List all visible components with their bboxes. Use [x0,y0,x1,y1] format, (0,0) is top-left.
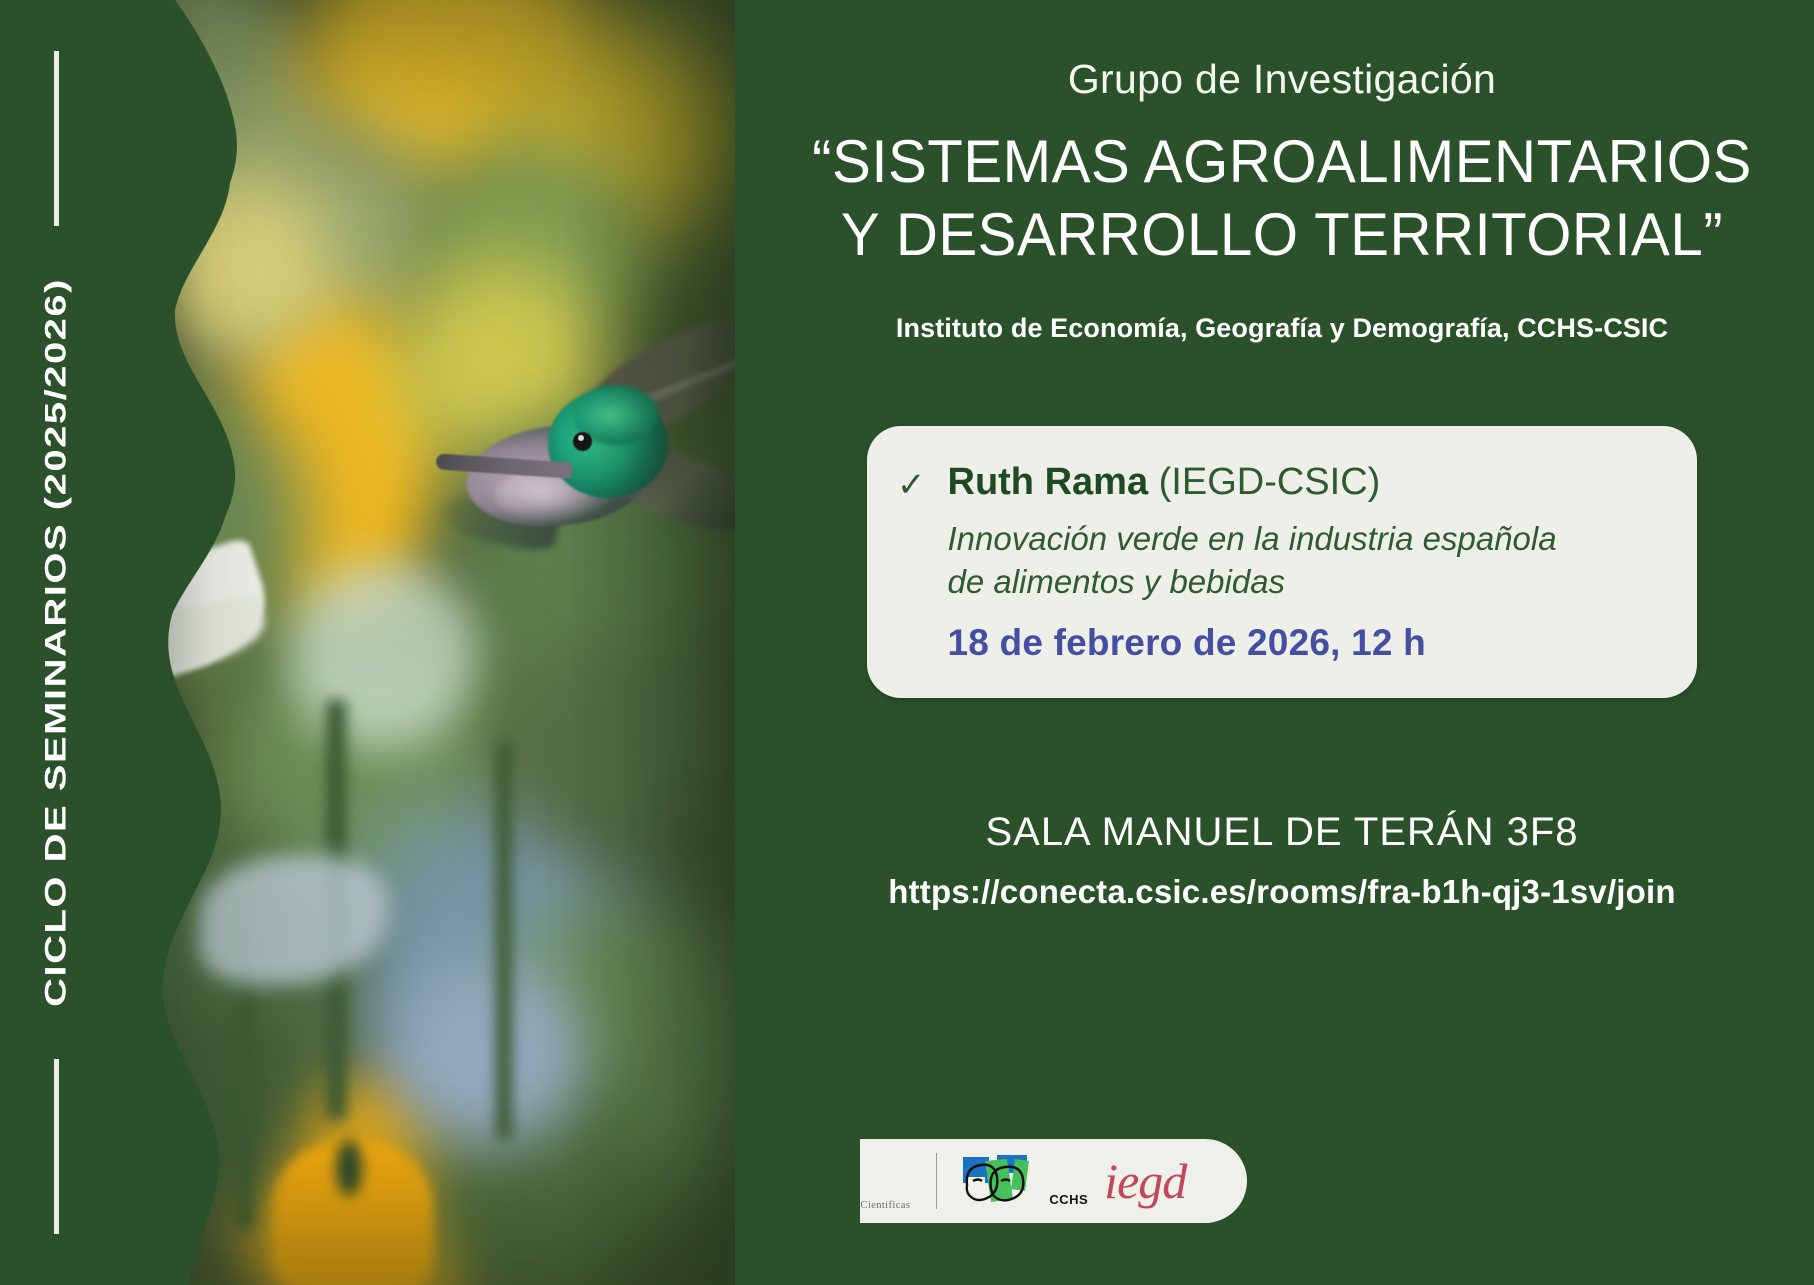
venue-room: SALA MANUEL DE TERÁN 3F8 [794,810,1770,855]
speaker-affiliation: (IEGD-CSIC) [1159,461,1381,503]
talk-title-line-1: Innovación verde en la industria español… [948,518,1660,561]
hummingbird-photo-panel [88,0,748,1285]
speaker-name: Ruth Rama [948,461,1149,503]
title-line-1: “SISTEMAS AGROALIMENTARIOS [809,125,1756,198]
rail-line-bottom [54,1059,59,1234]
talk-title: Innovación verde en la industria español… [948,518,1660,604]
check-icon: ✓ [897,468,926,502]
seminar-series-label: CICLO DE SEMINARIOS (2025/2026) [39,278,72,1007]
speaker-line: Ruth Rama (IEGD-CSIC) [948,460,1660,506]
seminar-poster: CICLO DE SEMINARIOS (2025/2026) Grupo de… [0,0,1814,1285]
seminar-series-rail: CICLO DE SEMINARIOS (2025/2026) [0,0,112,1285]
institute-line: Instituto de Economía, Geografía y Demog… [794,313,1770,344]
poster-content: Grupo de Investigación “SISTEMAS AGROALI… [760,0,1814,1285]
talk-title-line-2: de alimentos y bebidas [948,561,1660,604]
meeting-link[interactable]: https://conecta.csic.es/rooms/fra-b1h-qj… [794,873,1770,911]
hummingbird-photo [88,0,748,1285]
rail-line-top [54,51,59,226]
page-title: “SISTEMAS AGROALIMENTARIOS Y DESARROLLO … [809,125,1756,271]
session-date: 18 de febrero de 2026, 12 h [948,622,1660,664]
session-card: ✓ Ruth Rama (IEGD-CSIC) Innovación verde… [867,426,1697,697]
title-line-2: Y DESARROLLO TERRITORIAL” [809,198,1756,271]
group-kicker: Grupo de Investigación [794,56,1770,103]
